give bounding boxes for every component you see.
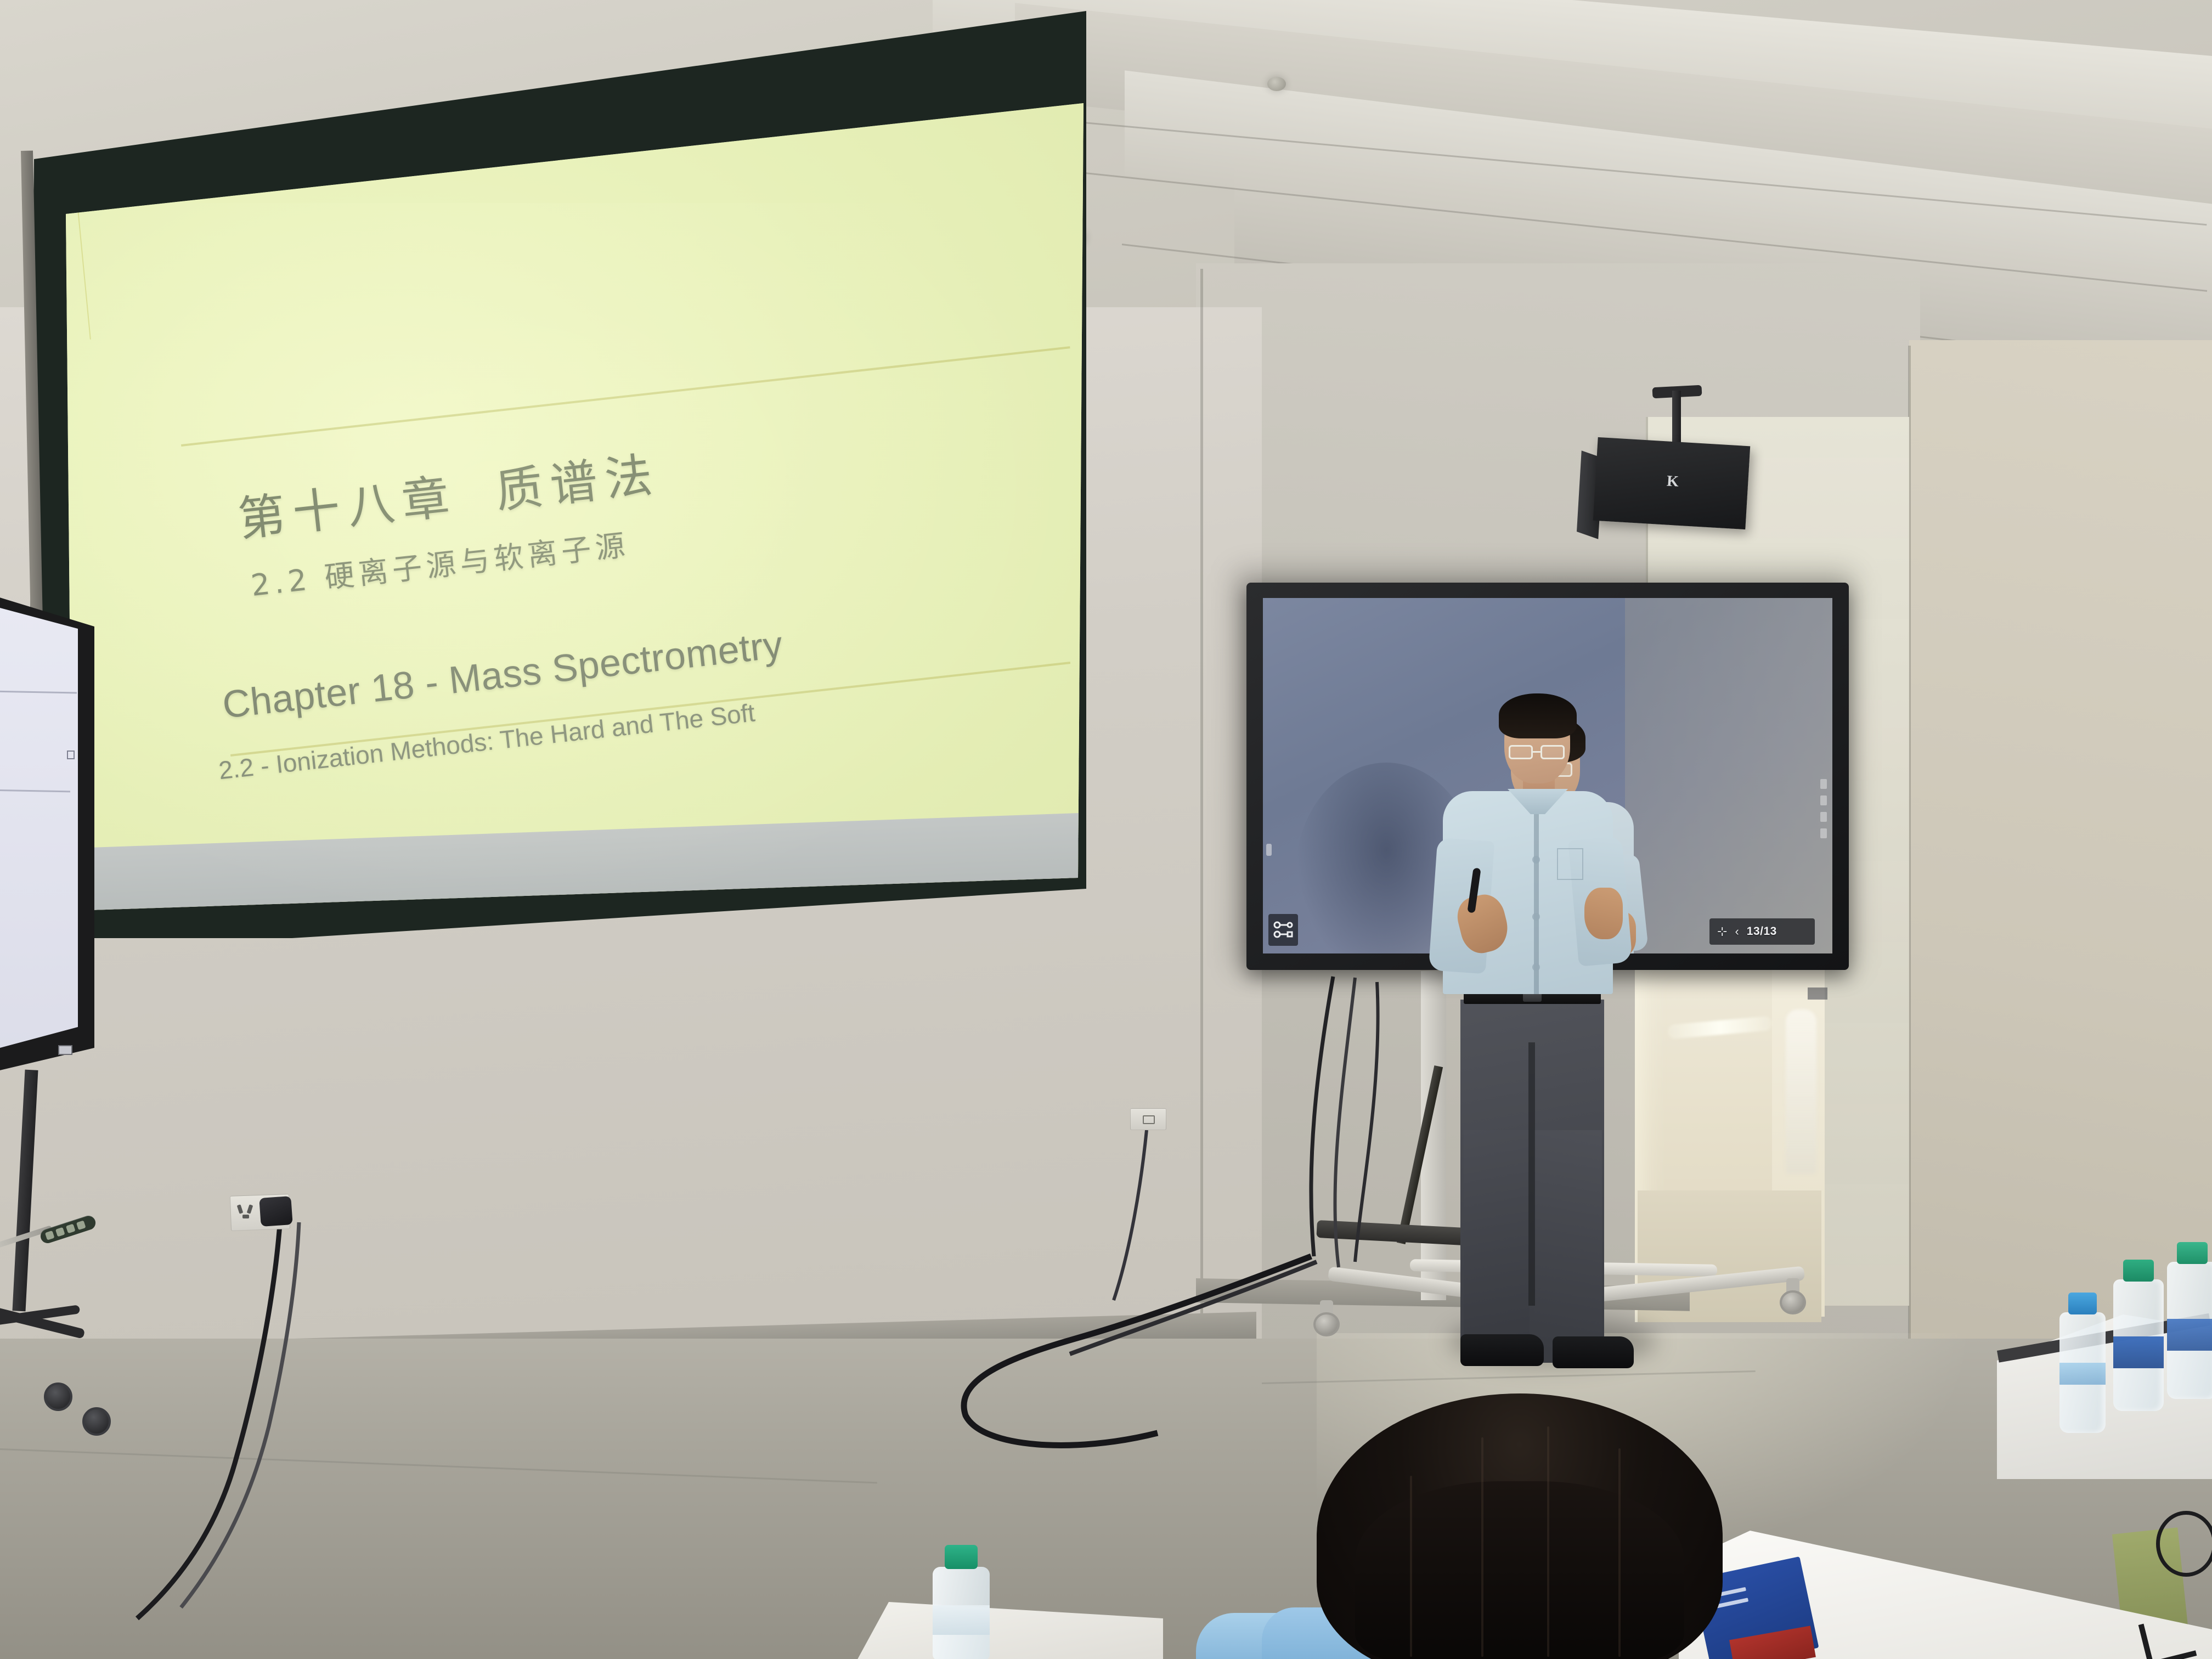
presenter-hair <box>1499 693 1577 738</box>
bottle-label <box>2167 1319 2212 1351</box>
hair-strand <box>1618 1448 1621 1657</box>
water-bottle <box>2059 1312 2106 1433</box>
presenter-leg <box>1534 1130 1602 1363</box>
bottle-cap <box>945 1545 978 1569</box>
water-bottle <box>2113 1279 2164 1411</box>
slide-page-counter: 13/13 <box>1747 925 1777 938</box>
bottle-cap <box>2177 1242 2208 1264</box>
annotate-toolbar-icon[interactable] <box>1268 914 1298 946</box>
hair-strand <box>1410 1476 1412 1657</box>
presenter-shirt-button <box>1532 963 1540 971</box>
screen-background-wall <box>1625 598 1832 953</box>
presenter-trouser-seam <box>1528 1042 1535 1306</box>
outlet-plug[interactable] <box>259 1196 292 1227</box>
hair-strand <box>1547 1426 1549 1657</box>
presenter-hand <box>1584 888 1623 939</box>
outlet-socket-holes-icon <box>236 1203 256 1221</box>
wall-power-outlet[interactable] <box>1130 1108 1166 1130</box>
presenter-shoe <box>1460 1334 1544 1366</box>
bottle-cap <box>2123 1260 2154 1282</box>
hair-strand <box>1481 1437 1483 1657</box>
water-bottle <box>933 1567 990 1659</box>
foreground-student-hair <box>1355 1481 1684 1659</box>
presenter-shoe <box>1553 1336 1634 1368</box>
bottle-label <box>2059 1363 2106 1385</box>
bottle-cap <box>2068 1293 2097 1314</box>
water-bottle <box>2167 1262 2212 1399</box>
floor-cables <box>0 0 2212 1659</box>
display-side-controls[interactable] <box>1820 779 1827 844</box>
presenter-shirt-pocket <box>1557 848 1583 880</box>
presenter-glasses-icon <box>1509 745 1568 760</box>
display-indicator-light <box>1266 844 1272 856</box>
lecture-hall-photo: COLLEGE OF CHEMISTRY JILIN UNIVERSITY 第十… <box>0 0 2212 1659</box>
bottle-label <box>933 1605 990 1635</box>
presenter-leg <box>1464 1130 1530 1361</box>
slide-navigation-bar[interactable]: ⊹ ‹ 13/13 <box>1709 918 1815 945</box>
bottle-label <box>2113 1336 2164 1368</box>
pin-icon[interactable]: ⊹ <box>1717 926 1727 938</box>
presenter-shirt-button <box>1532 913 1540 921</box>
presenter-shirt-button <box>1532 856 1540 864</box>
previous-slide-icon[interactable]: ‹ <box>1735 926 1739 938</box>
foreground-dark-ring-object <box>2156 1511 2212 1577</box>
